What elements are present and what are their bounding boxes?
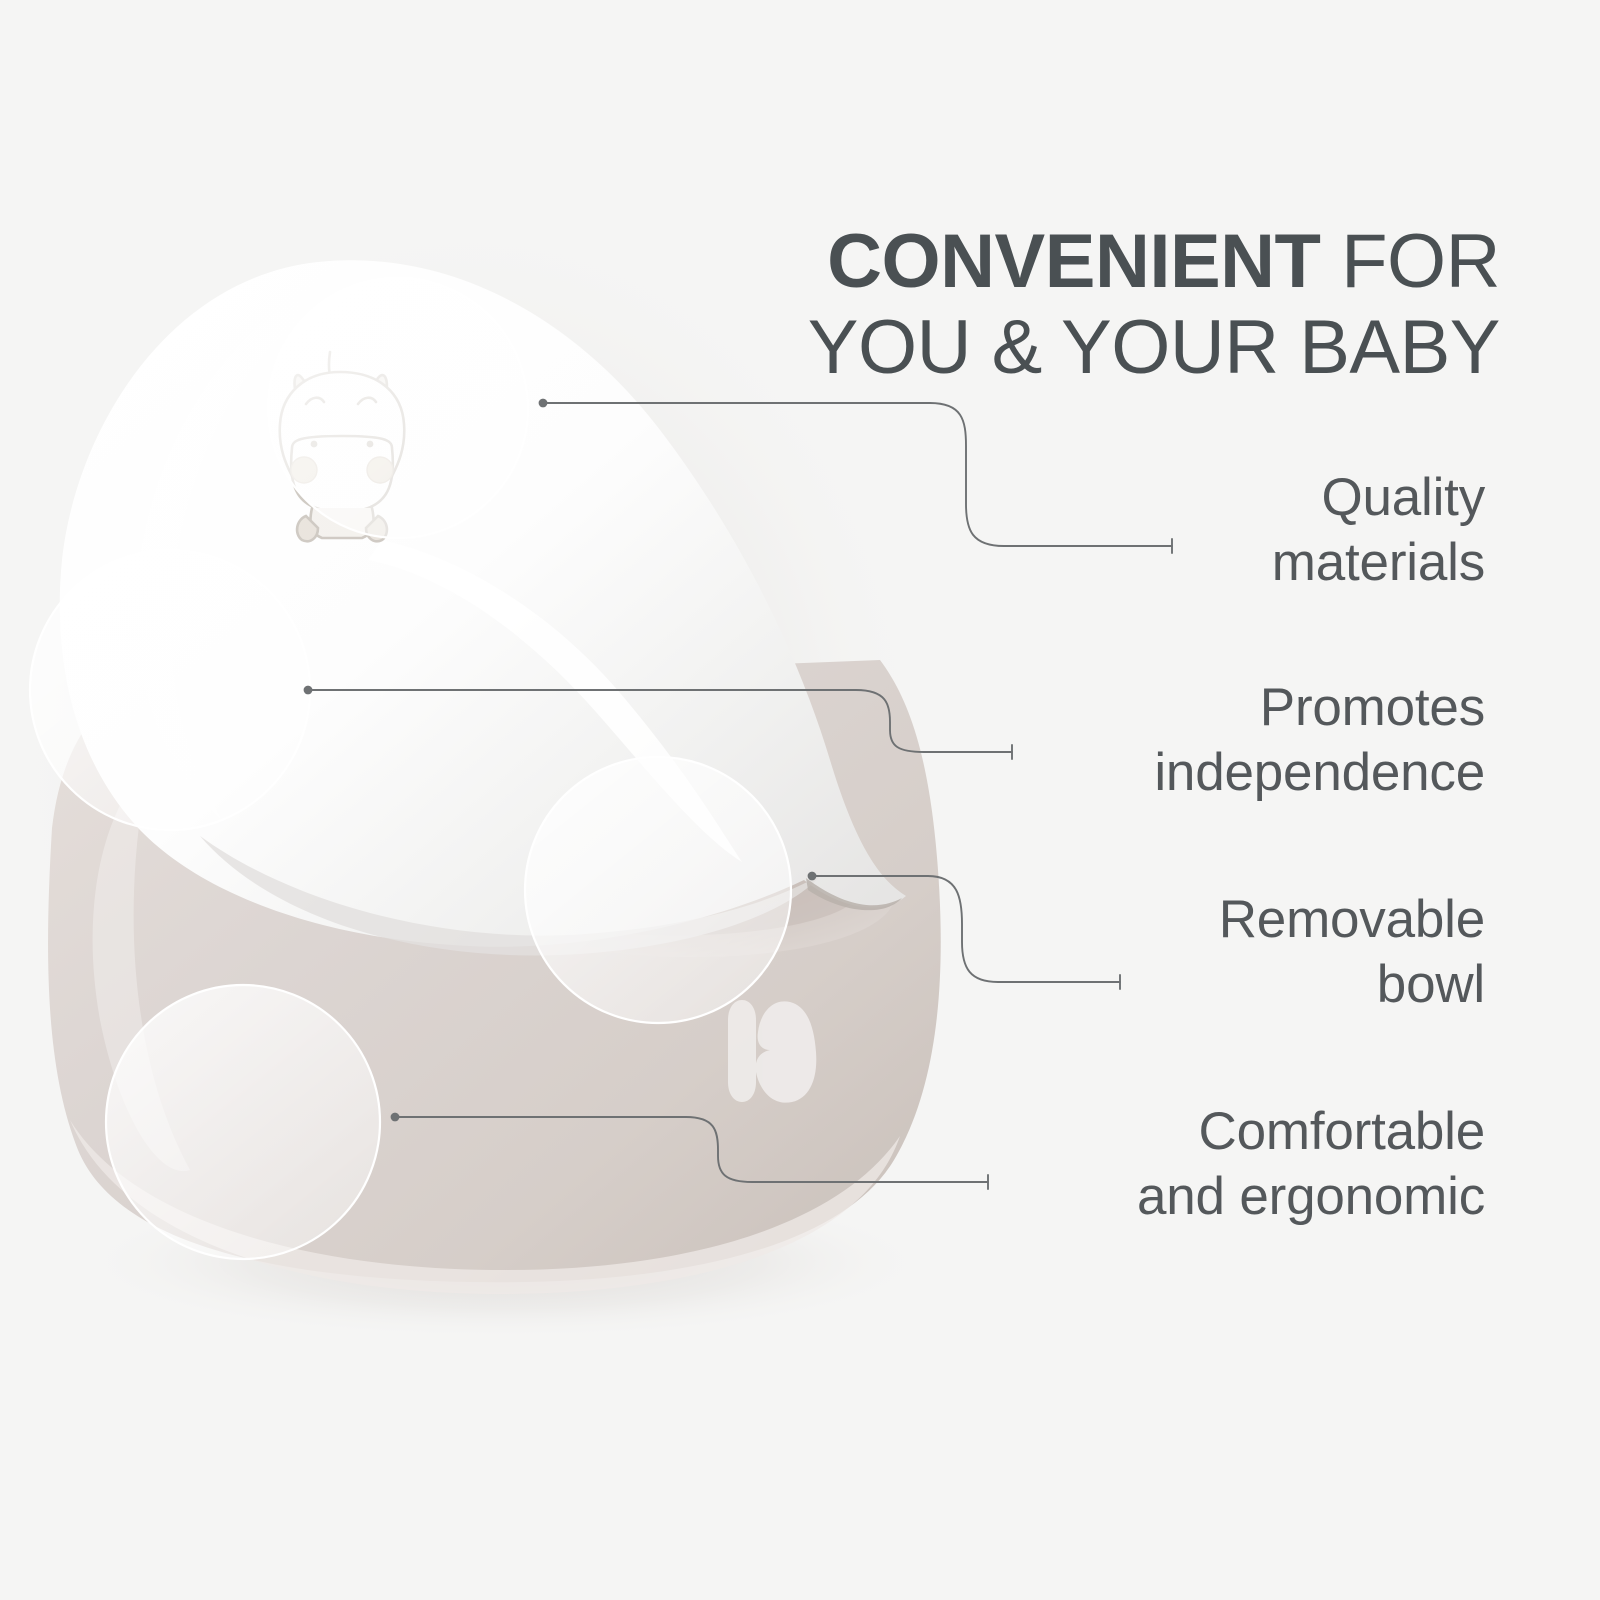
feature-label-promotes-independence: Promotes independence	[965, 676, 1485, 805]
magnifier-lid-gloss	[30, 550, 310, 830]
magnifier-base	[106, 985, 380, 1259]
magnifier-character	[268, 278, 528, 538]
magnifier-bowl	[525, 757, 791, 1023]
feature-line-1: Promotes	[965, 676, 1485, 741]
feature-line-2: bowl	[965, 953, 1485, 1018]
feature-line-2: and ergonomic	[965, 1165, 1485, 1230]
feature-line-2: independence	[965, 741, 1485, 806]
feature-line-1: Removable	[965, 888, 1485, 953]
feature-label-quality-materials: Quality materials	[965, 466, 1485, 595]
headline-line-1: CONVENIENT FOR	[640, 219, 1500, 305]
page-title: CONVENIENT FOR YOU & YOUR BABY	[640, 219, 1500, 391]
feature-line-1: Comfortable	[965, 1100, 1485, 1165]
feature-line-1: Quality	[965, 466, 1485, 531]
product-image	[0, 0, 1050, 1400]
headline-emphasis: CONVENIENT	[827, 219, 1320, 304]
feature-label-removable-bowl: Removable bowl	[965, 888, 1485, 1017]
feature-label-comfortable-ergonomic: Comfortable and ergonomic	[965, 1100, 1485, 1229]
marketing-banner: CONVENIENT FOR YOU & YOUR BABY Quality m…	[0, 0, 1600, 1600]
kikkaboo-k-logo	[728, 1000, 816, 1103]
headline-line-2: YOU & YOUR BABY	[640, 305, 1500, 391]
feature-line-2: materials	[965, 531, 1485, 596]
headline-rest: FOR	[1320, 219, 1500, 304]
